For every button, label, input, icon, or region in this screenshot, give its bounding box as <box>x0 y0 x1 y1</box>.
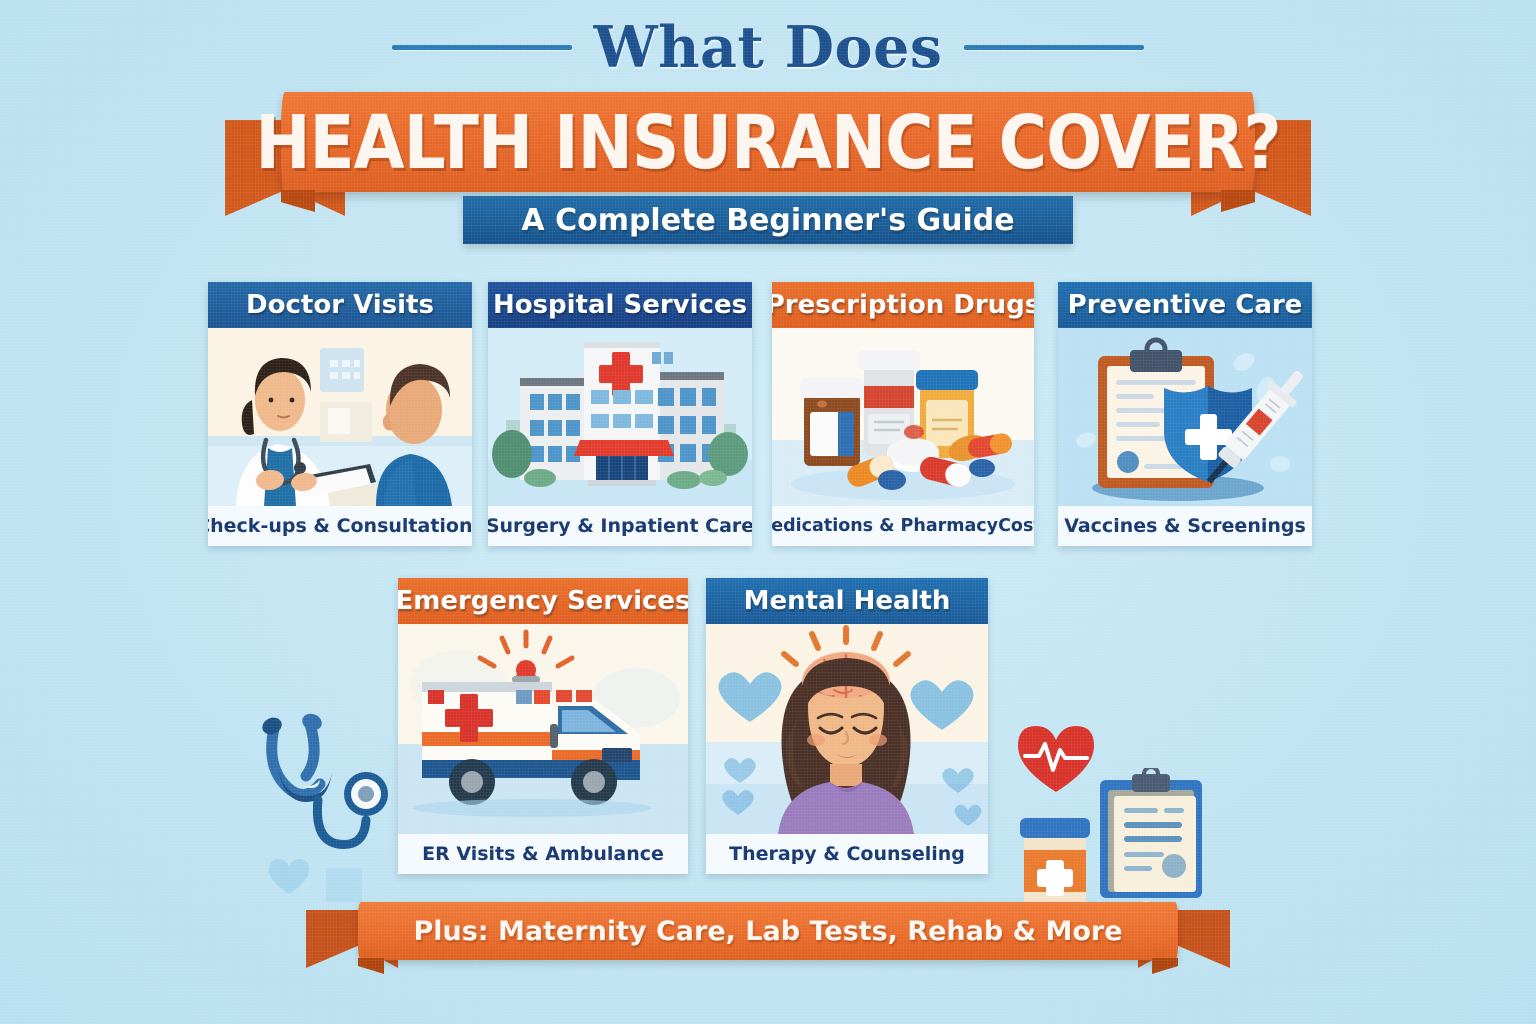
card-hospital-services[interactable]: Hospital Services <box>488 282 752 546</box>
footer-banner: Plus: Maternity Care, Lab Tests, Rehab &… <box>358 902 1178 960</box>
subtitle-text: A Complete Beginner's Guide <box>463 196 1073 244</box>
card-art-mental-health <box>706 624 988 834</box>
card-caption-preventive-care: Vaccines & Screenings <box>1058 506 1312 546</box>
eyebrow-text: What Does <box>594 14 943 81</box>
card-caption-hospital-services: Surgery & Inpatient Care <box>488 506 752 546</box>
card-title-prescription-drugs: Prescription Drugs <box>772 282 1034 328</box>
card-title-doctor-visits: Doctor Visits <box>208 282 472 328</box>
card-prescription-drugs[interactable]: Prescription Drugs <box>772 282 1034 546</box>
heartbeat-heart-icon <box>1017 722 1095 794</box>
ambulance-illustration <box>398 624 688 834</box>
card-caption-doctor-visits: Check-ups & Consultations <box>208 506 472 546</box>
title-dash-left <box>392 45 572 50</box>
card-title-preventive-care: Preventive Care <box>1058 282 1312 328</box>
stethoscope-icon <box>248 706 398 866</box>
square-ghost-icon <box>326 868 362 902</box>
card-art-prescription-drugs <box>772 328 1034 506</box>
main-title-ribbon: HEALTH INSURANCE COVER? <box>233 92 1303 192</box>
woman-with-brain-and-hearts-illustration <box>706 624 988 834</box>
clipboard-shield-syringe-illustration <box>1058 328 1312 506</box>
card-title-mental-health: Mental Health <box>706 578 988 624</box>
card-title-emergency-services: Emergency Services <box>398 578 688 624</box>
card-art-emergency-services <box>398 624 688 834</box>
infographic-canvas: What Does HEALTH INSURANCE COVER? A Comp… <box>0 0 1536 1024</box>
card-title-hospital-services: Hospital Services <box>488 282 752 328</box>
title-dash-right <box>964 45 1144 50</box>
subtitle-ribbon: A Complete Beginner's Guide <box>463 196 1073 244</box>
card-art-doctor-visits <box>208 328 472 506</box>
title-block: What Does <box>0 14 1536 81</box>
heart-ghost-icon <box>268 856 310 896</box>
doctor-patient-consultation-illustration <box>208 328 472 506</box>
card-art-hospital-services <box>488 328 752 506</box>
eyebrow-row: What Does <box>0 14 1536 81</box>
card-doctor-visits[interactable]: Doctor Visits <box>208 282 472 546</box>
card-art-preventive-care <box>1058 328 1312 506</box>
card-caption-prescription-drugs: Medications & PharmacyCosts <box>772 506 1034 546</box>
footer-banner-text: Plus: Maternity Care, Lab Tests, Rehab &… <box>358 902 1178 960</box>
card-preventive-care[interactable]: Preventive Care <box>1058 282 1312 546</box>
pill-bottle-icon <box>1012 812 1098 912</box>
main-title-text: HEALTH INSURANCE COVER? <box>233 86 1303 198</box>
card-caption-mental-health: Therapy & Counseling <box>706 834 988 874</box>
card-emergency-services[interactable]: Emergency Services <box>398 578 688 874</box>
banner-fold-left <box>358 958 384 974</box>
card-caption-emergency-services: ER Visits & Ambulance <box>398 834 688 874</box>
banner-fold-right <box>1152 958 1178 974</box>
card-mental-health[interactable]: Mental Health <box>706 578 988 874</box>
hospital-building-illustration <box>488 328 752 506</box>
clipboard-icon <box>1098 768 1204 902</box>
pill-bottles-and-capsules-illustration <box>772 328 1034 506</box>
